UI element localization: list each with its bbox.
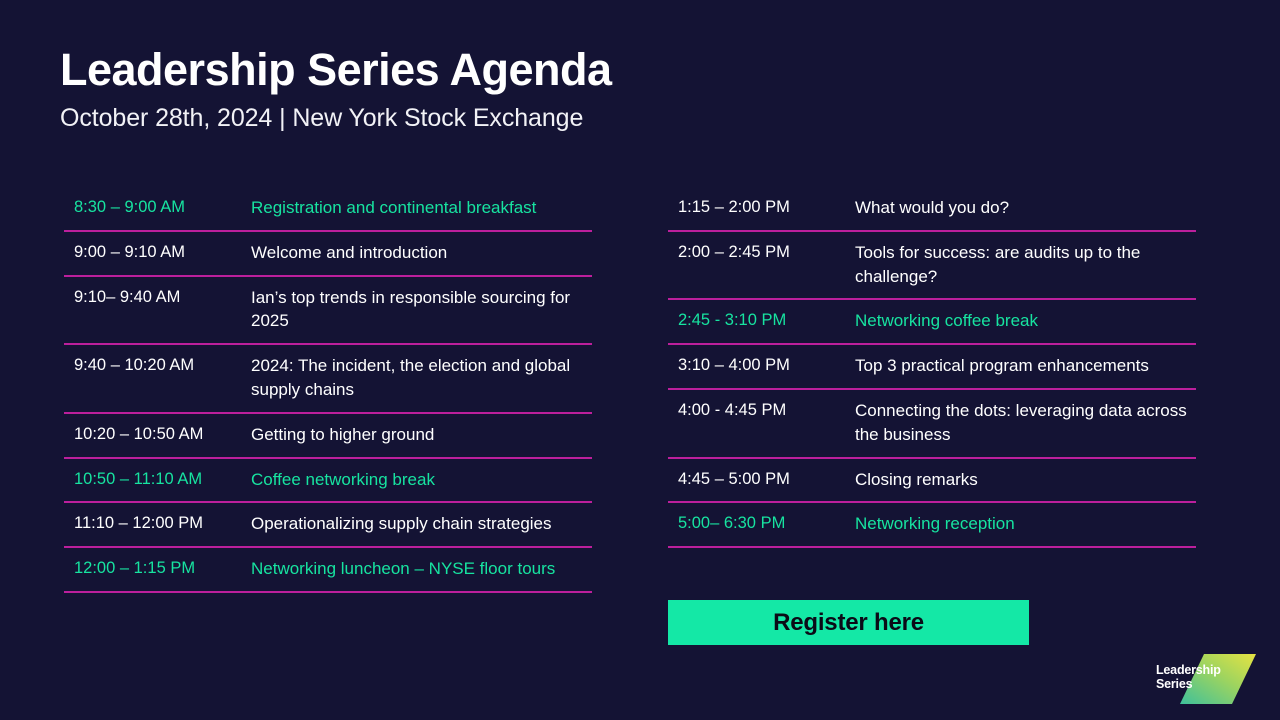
logo-parallelogram-icon (1148, 652, 1272, 706)
agenda-row-title: Ian’s top trends in responsible sourcing… (251, 286, 592, 334)
agenda-row-time: 4:00 - 4:45 PM (668, 399, 855, 422)
agenda-row: 5:00– 6:30 PMNetworking reception (668, 503, 1196, 548)
agenda-column-left: 8:30 – 9:00 AMRegistration and continent… (64, 187, 592, 593)
agenda-row-time: 2:45 - 3:10 PM (668, 309, 855, 332)
agenda-row-time: 1:15 – 2:00 PM (668, 196, 855, 219)
agenda-row-title: 2024: The incident, the election and glo… (251, 354, 592, 402)
agenda-row-time: 9:40 – 10:20 AM (64, 354, 251, 377)
agenda-row: 9:10– 9:40 AMIan’s top trends in respons… (64, 277, 592, 346)
agenda-row: 9:00 – 9:10 AMWelcome and introduction (64, 232, 592, 277)
agenda-slide: Leadership Series Agenda October 28th, 2… (0, 0, 1280, 720)
agenda-row-time: 9:10– 9:40 AM (64, 286, 251, 309)
agenda-row: 10:20 – 10:50 AMGetting to higher ground (64, 414, 592, 459)
agenda-row-title: What would you do? (855, 196, 1196, 220)
agenda-row-time: 11:10 – 12:00 PM (64, 512, 251, 535)
page-subtitle: October 28th, 2024 | New York Stock Exch… (60, 104, 612, 133)
agenda-row: 8:30 – 9:00 AMRegistration and continent… (64, 187, 592, 232)
agenda-row: 11:10 – 12:00 PMOperationalizing supply … (64, 503, 592, 548)
agenda-row-title: Networking reception (855, 512, 1196, 536)
agenda-row: 4:45 – 5:00 PMClosing remarks (668, 459, 1196, 504)
agenda-row: 3:10 – 4:00 PMTop 3 practical program en… (668, 345, 1196, 390)
agenda-row-title: Tools for success: are audits up to the … (855, 241, 1196, 289)
agenda-row-title: Closing remarks (855, 468, 1196, 492)
agenda-row: 1:15 – 2:00 PMWhat would you do? (668, 187, 1196, 232)
agenda-row-title: Getting to higher ground (251, 423, 592, 447)
agenda-row: 10:50 – 11:10 AMCoffee networking break (64, 459, 592, 504)
agenda-row-title: Connecting the dots: leveraging data acr… (855, 399, 1196, 447)
agenda-row-time: 5:00– 6:30 PM (668, 512, 855, 535)
agenda-row-title: Networking coffee break (855, 309, 1196, 333)
agenda-row-time: 3:10 – 4:00 PM (668, 354, 855, 377)
agenda-row-title: Registration and continental breakfast (251, 196, 592, 220)
agenda-row-time: 2:00 – 2:45 PM (668, 241, 855, 264)
register-button[interactable]: Register here (668, 600, 1029, 645)
agenda-row: 2:00 – 2:45 PMTools for success: are aud… (668, 232, 1196, 301)
agenda-row-time: 10:20 – 10:50 AM (64, 423, 251, 446)
agenda-row-time: 8:30 – 9:00 AM (64, 196, 251, 219)
agenda-column-right: 1:15 – 2:00 PMWhat would you do?2:00 – 2… (668, 187, 1196, 548)
agenda-row-title: Welcome and introduction (251, 241, 592, 265)
agenda-row-title: Top 3 practical program enhancements (855, 354, 1196, 378)
agenda-row: 4:00 - 4:45 PMConnecting the dots: lever… (668, 390, 1196, 459)
agenda-row-title: Networking luncheon – NYSE floor tours (251, 557, 592, 581)
agenda-row-time: 9:00 – 9:10 AM (64, 241, 251, 264)
slide-header: Leadership Series Agenda October 28th, 2… (60, 46, 612, 133)
page-title: Leadership Series Agenda (60, 46, 612, 93)
agenda-row-time: 12:00 – 1:15 PM (64, 557, 251, 580)
agenda-row-time: 10:50 – 11:10 AM (64, 468, 251, 491)
agenda-row-title: Operationalizing supply chain strategies (251, 512, 592, 536)
agenda-row-time: 4:45 – 5:00 PM (668, 468, 855, 491)
agenda-row: 12:00 – 1:15 PMNetworking luncheon – NYS… (64, 548, 592, 593)
leadership-series-logo: Leadership Series (1148, 652, 1272, 706)
agenda-row: 2:45 - 3:10 PMNetworking coffee break (668, 300, 1196, 345)
agenda-row: 9:40 – 10:20 AM2024: The incident, the e… (64, 345, 592, 414)
agenda-row-title: Coffee networking break (251, 468, 592, 492)
